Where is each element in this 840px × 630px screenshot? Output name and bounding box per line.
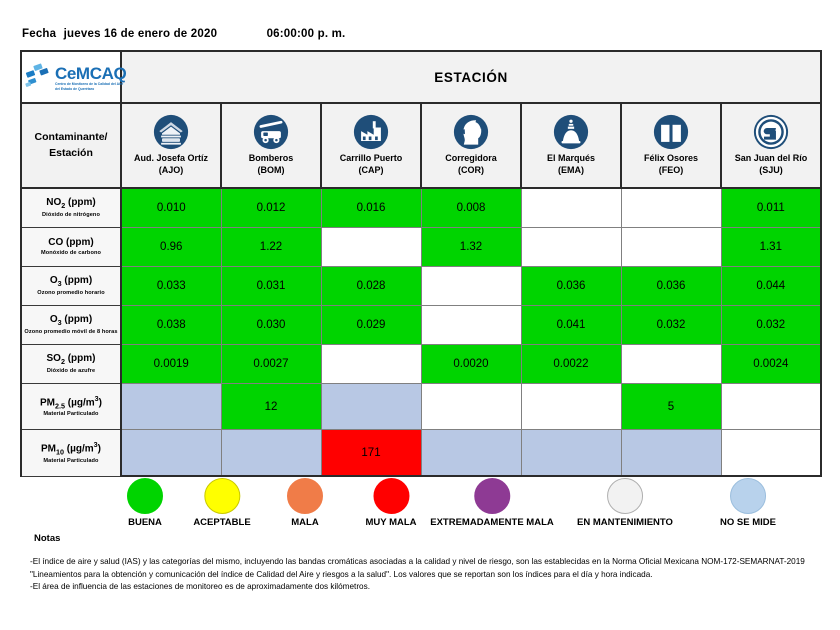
- cell-2-0: 0.033: [121, 267, 221, 306]
- table-row: O3 (ppm)Ozono promedio móvil de 8 horas0…: [21, 306, 821, 345]
- cell-5-0: [121, 384, 221, 430]
- pollutant-label-2: O3 (ppm)Ozono promedio horario: [21, 267, 121, 306]
- cell-0-0: 0.010: [121, 188, 221, 228]
- cell-2-6: 0.044: [721, 267, 821, 306]
- cell-4-1: 0.0027: [221, 345, 321, 384]
- pollutant-description: Dióxido de nitrógeno: [24, 212, 118, 219]
- station-name: Carrillo Puerto: [323, 152, 419, 164]
- pollutant-description: Material Particulado: [24, 411, 118, 418]
- legend-swatch: [204, 478, 240, 514]
- table-row: PM2.5 (µg/m3)Material Particulado125: [21, 384, 821, 430]
- station-name: El Marqués: [523, 152, 619, 164]
- station-header-cap[interactable]: Carrillo Puerto(CAP): [321, 103, 421, 188]
- station-name: Corregidora: [423, 152, 519, 164]
- cell-1-3: 1.32: [421, 228, 521, 267]
- legend-item-buena: BUENA: [127, 478, 163, 528]
- cell-3-0: 0.038: [121, 306, 221, 345]
- cell-5-3: [421, 384, 521, 430]
- station-abbr: (EMA): [523, 164, 619, 176]
- station-abbr: (BOM): [223, 164, 319, 176]
- station-header-feo[interactable]: Félix Osores(FEO): [621, 103, 721, 188]
- quality-legend: BUENAACEPTABLEMALAMUY MALAEXTREMADAMENTE…: [20, 478, 820, 534]
- cell-6-1: [221, 430, 321, 477]
- cell-2-4: 0.036: [521, 267, 621, 306]
- legend-item-extremadamente-mala: EXTREMADAMENTE MALA: [430, 478, 554, 528]
- legend-label: EN MANTENIMIENTO: [577, 517, 673, 528]
- logo-subtitle-line2: del Estado de Querétaro: [55, 87, 126, 91]
- legend-swatch: [474, 478, 510, 514]
- legend-item-muy-mala: MUY MALA: [365, 478, 416, 528]
- legend-swatch: [127, 478, 163, 514]
- legend-label: ACEPTABLE: [193, 517, 250, 528]
- cell-2-3: [421, 267, 521, 306]
- cell-4-3: 0.0020: [421, 345, 521, 384]
- station-abbr: (SJU): [723, 164, 819, 176]
- cell-4-4: 0.0022: [521, 345, 621, 384]
- legend-item-no-se-mide: NO SE MIDE: [720, 478, 776, 528]
- cell-1-4: [521, 228, 621, 267]
- estacion-header: ESTACIÓN: [121, 51, 821, 103]
- station-header-cor[interactable]: Corregidora(COR): [421, 103, 521, 188]
- legend-label: EXTREMADAMENTE MALA: [430, 517, 554, 528]
- pollutant-label-5: PM2.5 (µg/m3)Material Particulado: [21, 384, 121, 430]
- date-value: jueves 16 de enero de 2020: [64, 28, 218, 40]
- station-header-ajo[interactable]: Aud. Josefa Ortíz(AJO): [121, 103, 221, 188]
- station-abbr: (CAP): [323, 164, 419, 176]
- cell-2-2: 0.028: [321, 267, 421, 306]
- g-monogram-icon: [723, 114, 819, 150]
- station-name: San Juan del Río: [723, 152, 819, 164]
- date-label: Fecha: [22, 28, 56, 40]
- station-name: Félix Osores: [623, 152, 719, 164]
- auditorium-icon: [123, 114, 219, 150]
- cell-2-5: 0.036: [621, 267, 721, 306]
- legend-swatch: [287, 478, 323, 514]
- cell-0-6: 0.011: [721, 188, 821, 228]
- cell-4-5: [621, 345, 721, 384]
- table-row: NO2 (ppm)Dióxido de nitrógeno0.0100.0120…: [21, 188, 821, 228]
- pollutant-description: Material Particulado: [24, 458, 118, 465]
- pollutant-description: Ozono promedio horario: [24, 290, 118, 297]
- pollutant-label-6: PM10 (µg/m3)Material Particulado: [21, 430, 121, 477]
- date-bar: Fecha jueves 16 de enero de 2020 06:00:0…: [22, 28, 345, 40]
- pollutant-description: Ozono promedio móvil de 8 horas: [24, 329, 118, 336]
- cell-5-2: [321, 384, 421, 430]
- table-row: PM10 (µg/m3)Material Particulado171: [21, 430, 821, 477]
- cell-0-3: 0.008: [421, 188, 521, 228]
- cell-0-1: 0.012: [221, 188, 321, 228]
- time-value: 06:00:00 p. m.: [267, 28, 346, 40]
- cell-3-4: 0.041: [521, 306, 621, 345]
- table-row: SO2 (ppm)Dióxido de azufre0.00190.00270.…: [21, 345, 821, 384]
- cell-6-0: [121, 430, 221, 477]
- logo-subtitle-line1: Centro de Monitoreo de la Calidad del Ai…: [55, 82, 126, 86]
- fire-truck-icon: [223, 114, 319, 150]
- cell-6-4: [521, 430, 621, 477]
- air-quality-report: Fecha jueves 16 de enero de 2020 06:00:0…: [0, 0, 840, 630]
- book-icon: [623, 114, 719, 150]
- pollutant-label-4: SO2 (ppm)Dióxido de azufre: [21, 345, 121, 384]
- legend-label: MALA: [287, 517, 323, 528]
- cell-0-4: [521, 188, 621, 228]
- cell-3-1: 0.030: [221, 306, 321, 345]
- pollutant-label-0: NO2 (ppm)Dióxido de nitrógeno: [21, 188, 121, 228]
- cell-5-6: [721, 384, 821, 430]
- cell-2-1: 0.031: [221, 267, 321, 306]
- station-abbr: (AJO): [123, 164, 219, 176]
- corner-header: Contaminante/Estación: [21, 103, 121, 188]
- table-row: CO (ppm)Monóxido de carbono0.961.221.321…: [21, 228, 821, 267]
- station-abbr: (COR): [423, 164, 519, 176]
- cell-1-5: [621, 228, 721, 267]
- station-header-sju[interactable]: San Juan del Río(SJU): [721, 103, 821, 188]
- legend-swatch: [607, 478, 643, 514]
- station-header-ema[interactable]: El Marqués(EMA): [521, 103, 621, 188]
- pollutant-description: Monóxido de carbono: [24, 250, 118, 257]
- cell-0-5: [621, 188, 721, 228]
- cell-3-3: [421, 306, 521, 345]
- cell-3-5: 0.032: [621, 306, 721, 345]
- legend-item-en-mantenimiento: EN MANTENIMIENTO: [577, 478, 673, 528]
- pollutant-label-1: CO (ppm)Monóxido de carbono: [21, 228, 121, 267]
- notes-title: Notas: [34, 533, 60, 544]
- legend-label: MUY MALA: [365, 517, 416, 528]
- cell-3-6: 0.032: [721, 306, 821, 345]
- woman-profile-icon: [423, 114, 519, 150]
- cell-1-1: 1.22: [221, 228, 321, 267]
- factory-icon: [323, 114, 419, 150]
- station-name: Aud. Josefa Ortíz: [123, 152, 219, 164]
- cell-1-2: [321, 228, 421, 267]
- cell-5-1: 12: [221, 384, 321, 430]
- table-row: O3 (ppm)Ozono promedio horario0.0330.031…: [21, 267, 821, 306]
- cell-6-2: 171: [321, 430, 421, 477]
- note-line-2: -El área de influencia de las estaciones…: [30, 581, 820, 594]
- logo-title: CeMCAQ: [55, 65, 126, 82]
- cell-5-5: 5: [621, 384, 721, 430]
- pollutant-description: Dióxido de azufre: [24, 368, 118, 375]
- station-name: Bomberos: [223, 152, 319, 164]
- pollutant-label-3: O3 (ppm)Ozono promedio móvil de 8 horas: [21, 306, 121, 345]
- legend-label: BUENA: [127, 517, 163, 528]
- bell-tower-icon: [523, 114, 619, 150]
- legend-item-mala: MALA: [287, 478, 323, 528]
- cemcaq-logo-icon: [24, 61, 54, 96]
- legend-label: NO SE MIDE: [720, 517, 776, 528]
- station-abbr: (FEO): [623, 164, 719, 176]
- legend-swatch: [373, 478, 409, 514]
- cemcaq-logo-cell: CeMCAQCentro de Monitoreo de la Calidad …: [21, 51, 121, 103]
- station-header-bom[interactable]: Bomberos(BOM): [221, 103, 321, 188]
- notes-body: -El índice de aire y salud (IAS) y las c…: [30, 556, 820, 594]
- cell-4-0: 0.0019: [121, 345, 221, 384]
- note-line-1: -El índice de aire y salud (IAS) y las c…: [30, 556, 820, 581]
- cell-6-6: [721, 430, 821, 477]
- cell-6-3: [421, 430, 521, 477]
- cell-4-2: [321, 345, 421, 384]
- cell-1-6: 1.31: [721, 228, 821, 267]
- cell-5-4: [521, 384, 621, 430]
- legend-item-aceptable: ACEPTABLE: [193, 478, 250, 528]
- cell-6-5: [621, 430, 721, 477]
- legend-swatch: [730, 478, 766, 514]
- cell-3-2: 0.029: [321, 306, 421, 345]
- cell-4-6: 0.0024: [721, 345, 821, 384]
- cell-0-2: 0.016: [321, 188, 421, 228]
- pollutant-station-table: CeMCAQCentro de Monitoreo de la Calidad …: [20, 50, 822, 477]
- cell-1-0: 0.96: [121, 228, 221, 267]
